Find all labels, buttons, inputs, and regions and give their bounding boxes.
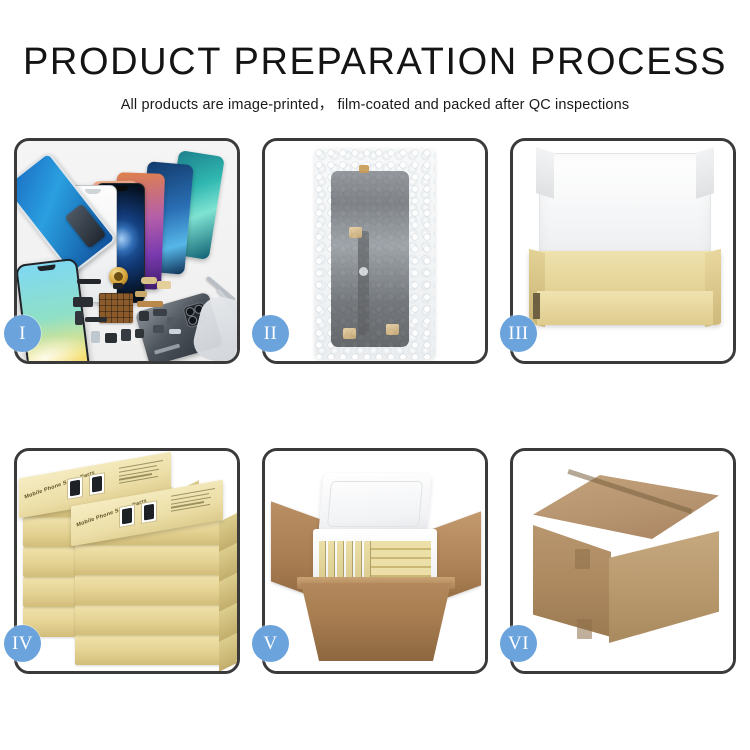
- tray-front-face: [537, 291, 713, 325]
- process-steps-grid: I II: [14, 138, 736, 678]
- driver-ic: [359, 267, 368, 276]
- spare-part: [135, 291, 147, 297]
- gold-connector: [386, 324, 399, 335]
- step-image-foam-carton-packing: [265, 451, 485, 671]
- stacked-box: [75, 605, 221, 635]
- box-window: [89, 472, 105, 496]
- gold-connector: [343, 328, 356, 339]
- housing-print: [154, 344, 180, 355]
- carton-top-face: [533, 475, 719, 539]
- product-preparation-infographic: PRODUCT PREPARATION PROCESS All products…: [0, 0, 750, 750]
- stacked-box: [75, 575, 221, 605]
- stacked-box: [75, 635, 221, 665]
- step-image-bubble-wrap-packing: [265, 141, 485, 361]
- spare-part: [121, 329, 131, 341]
- spare-part: [167, 317, 175, 325]
- spare-part: [75, 311, 83, 325]
- spare-part: [73, 297, 93, 307]
- carton-left-face: [533, 525, 611, 637]
- spare-part: [135, 329, 144, 338]
- box-window: [119, 504, 135, 528]
- step-badge-2: II: [252, 315, 289, 352]
- spare-part: [85, 317, 107, 322]
- step-image-inner-box-packing: [513, 141, 733, 361]
- tray-corner-shadow: [533, 293, 540, 319]
- lid-flap-right: [696, 147, 714, 199]
- lid-flap-left: [536, 147, 554, 199]
- kraft-box-tray: [529, 251, 721, 325]
- box-window: [67, 476, 83, 500]
- tape-strip: [359, 165, 369, 173]
- box-window: [141, 500, 157, 524]
- spare-part: [105, 333, 117, 343]
- spare-part: [141, 277, 157, 284]
- step-panel-sealed-shipping-carton: VI: [510, 448, 736, 674]
- carton-tape-patch: [577, 619, 592, 639]
- step-badge-1: I: [4, 315, 41, 352]
- page-subtitle: All products are image-printed， film-coa…: [0, 93, 750, 114]
- header: PRODUCT PREPARATION PROCESS All products…: [0, 0, 750, 114]
- bubble-wrap-bag: [315, 149, 435, 359]
- step-badge-6: VI: [500, 625, 537, 662]
- screen-assembly: [331, 171, 409, 347]
- box-label-text: Mobile Phone Spare Parts: [76, 498, 147, 528]
- box-stack: Mobile Phone Spare Parts Mobile Phone Sp…: [19, 465, 237, 665]
- page-title: PRODUCT PREPARATION PROCESS: [0, 40, 750, 84]
- spare-part: [169, 329, 181, 334]
- step-image-stacked-retail-boxes: Mobile Phone Spare Parts Mobile Phone Sp…: [17, 451, 237, 671]
- step-badge-4: IV: [4, 625, 41, 662]
- spare-part: [139, 311, 149, 321]
- step-panel-foam-carton-packing: V: [262, 448, 488, 674]
- stacked-box: [75, 545, 221, 575]
- step-image-sealed-shipping-carton: [513, 451, 733, 671]
- step-panel-bubble-wrap-packing: II: [262, 138, 488, 364]
- step-badge-3: III: [500, 315, 537, 352]
- spare-part: [113, 283, 123, 289]
- box-label-text: Mobile Phone Spare Parts: [24, 470, 95, 500]
- spare-part: [157, 281, 171, 289]
- box-spec-lines: [171, 488, 215, 515]
- step-panel-product-components: I: [14, 138, 240, 364]
- step-panel-stacked-retail-boxes: Mobile Phone Spare Parts Mobile Phone Sp…: [14, 448, 240, 674]
- carton-right-face: [609, 531, 719, 643]
- step-image-product-components: [17, 141, 237, 361]
- spare-part: [137, 301, 163, 307]
- carton-body: [301, 583, 451, 661]
- flex-cable: [358, 231, 369, 335]
- foam-box-lid: [318, 473, 431, 535]
- spare-part: [77, 279, 101, 284]
- box-spec-lines: [119, 460, 163, 487]
- spare-part: [153, 325, 164, 333]
- spare-part: [91, 331, 100, 343]
- step-panel-inner-box-packing: III: [510, 138, 736, 364]
- step-badge-5: V: [252, 625, 289, 662]
- carton-tape-patch: [575, 549, 590, 569]
- spare-part: [153, 309, 167, 316]
- gold-connector: [349, 227, 362, 238]
